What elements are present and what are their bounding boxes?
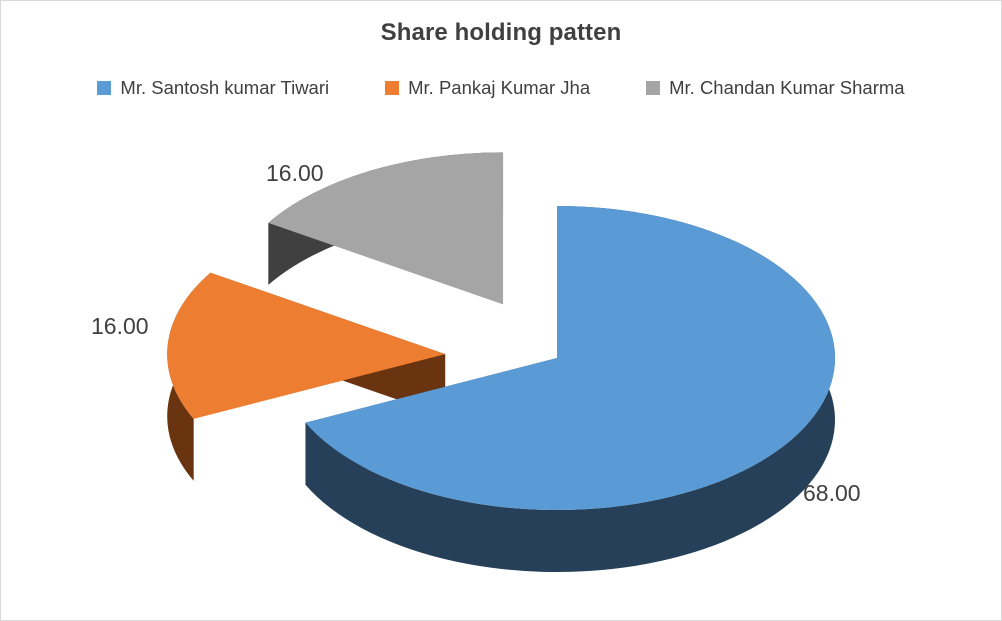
pie-chart-graphic: 16.00 16.00 68.00 bbox=[1, 1, 1002, 621]
data-label-blue: 68.00 bbox=[803, 480, 861, 506]
plot-area: 16.00 16.00 68.00 bbox=[1, 1, 1002, 621]
chart-container: Share holding patten Mr. Santosh kumar T… bbox=[0, 0, 1002, 621]
data-label-orange: 16.00 bbox=[91, 313, 149, 339]
data-label-grey: 16.00 bbox=[266, 160, 324, 186]
